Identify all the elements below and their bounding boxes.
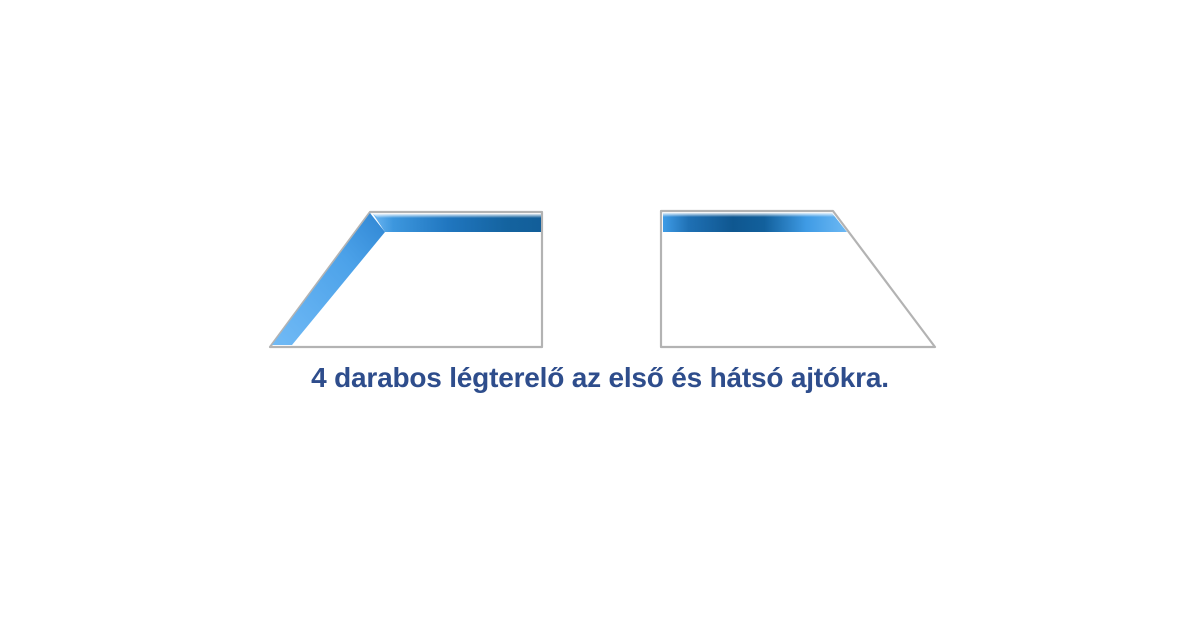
rear-deflector-highlight: [663, 213, 836, 217]
page-root: 4 darabos légterelő az első és hátsó ajt…: [0, 0, 1200, 630]
front-deflector-body: [270, 212, 542, 347]
wind-deflector-svg: [0, 0, 1200, 630]
wind-deflector-diagram: [0, 0, 1200, 630]
diagram-caption: 4 darabos légterelő az első és hátsó ajt…: [0, 360, 1200, 396]
front-deflector-highlight: [373, 214, 541, 218]
front-door-deflector: [270, 212, 542, 347]
rear-door-deflector: [661, 211, 935, 347]
